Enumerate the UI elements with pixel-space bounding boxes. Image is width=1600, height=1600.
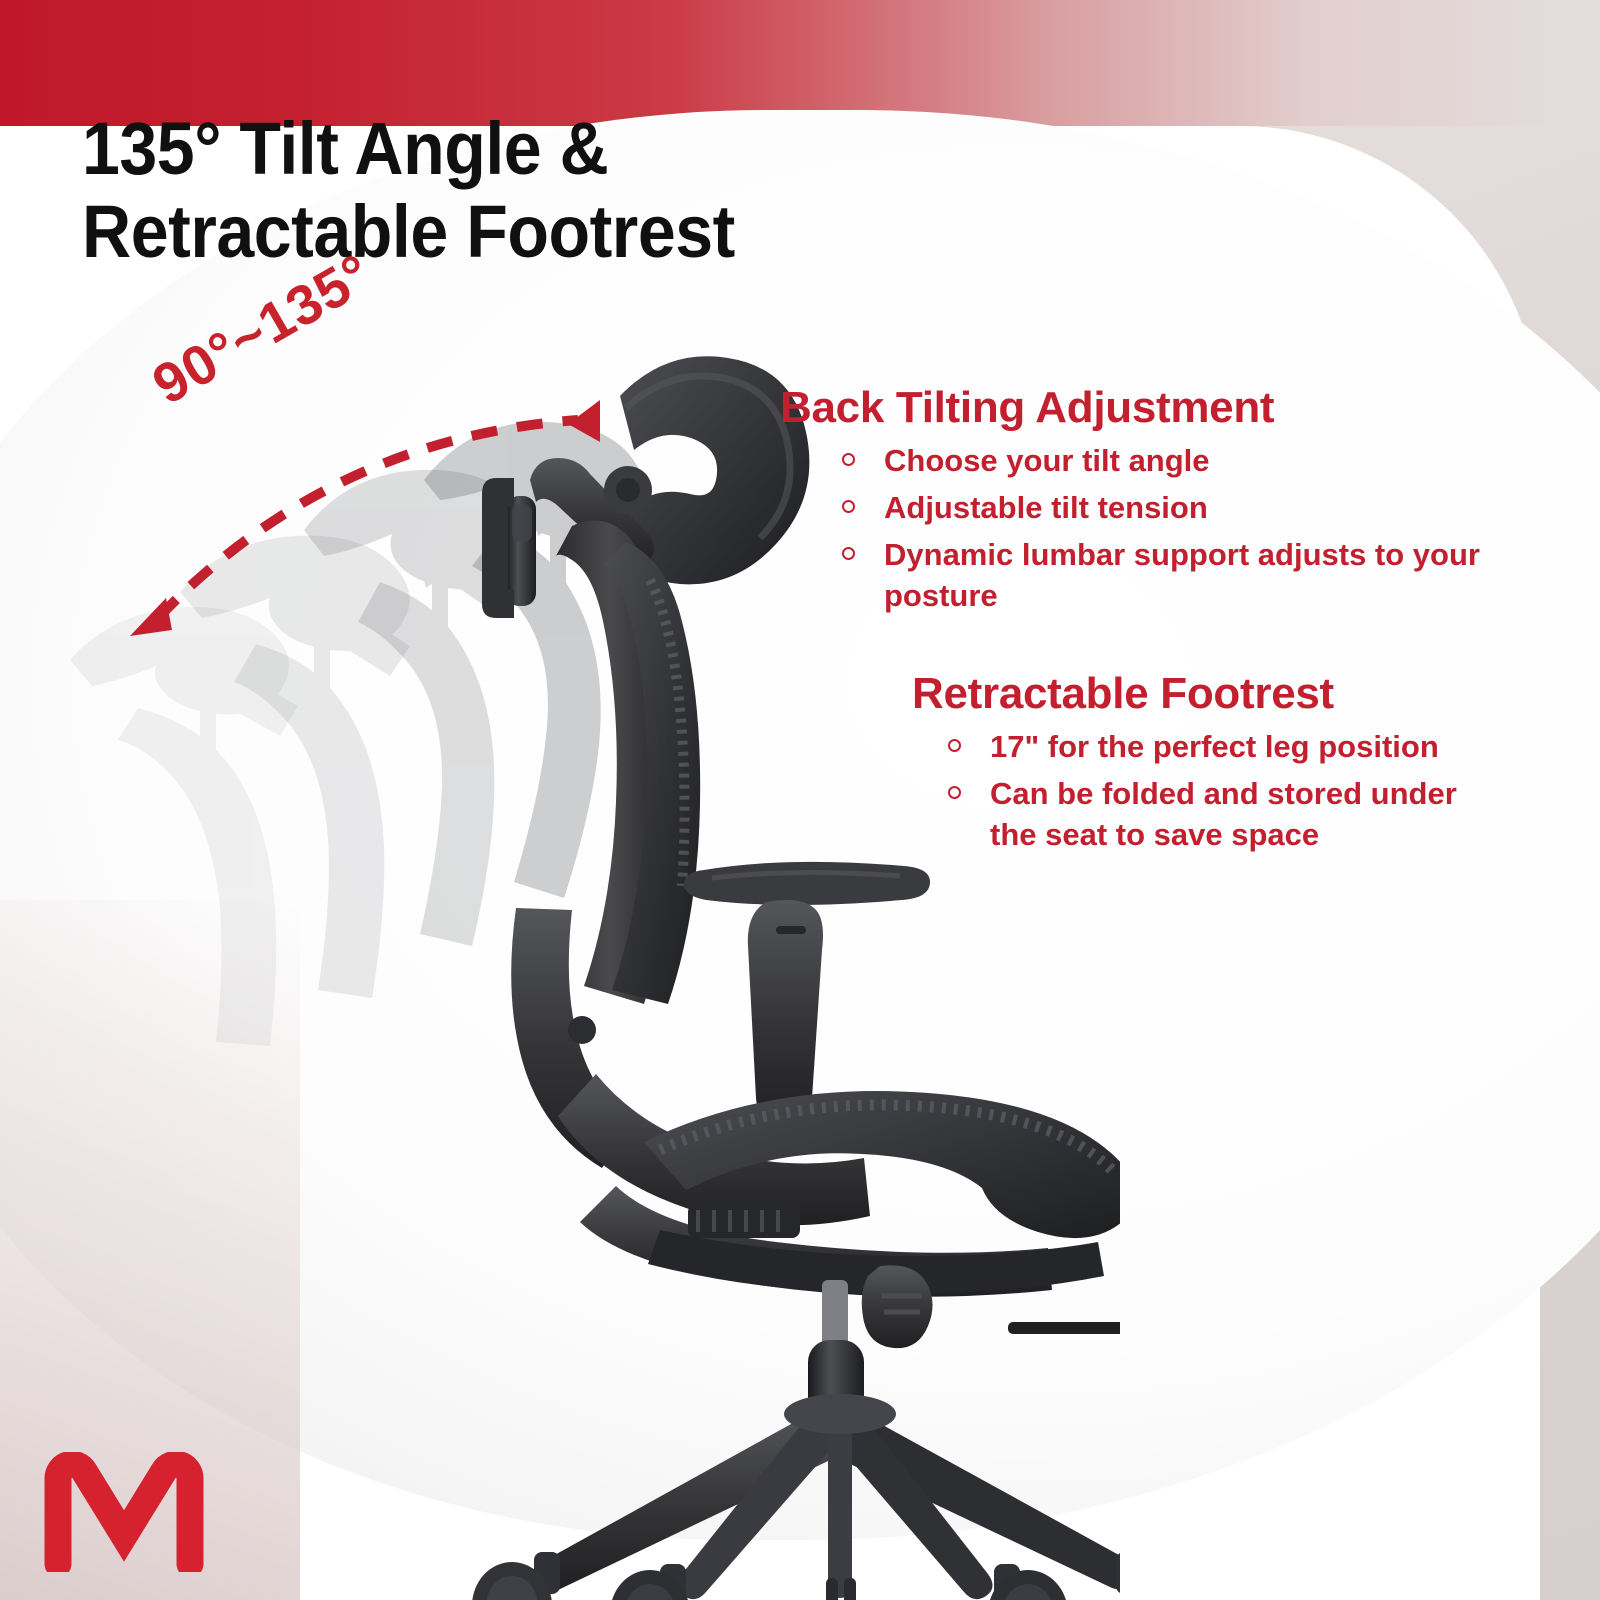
bullet-item: Adjustable tilt tension: [834, 487, 1480, 528]
section-heading-retractable-footrest: Retractable Footrest: [780, 670, 1480, 718]
tilt-angle-annotation: 90°~135°: [100, 330, 660, 650]
chair-base: [530, 1394, 1120, 1600]
bullet-circle-icon: [842, 453, 855, 466]
page-title-line-1: 135° Tilt Angle &: [82, 107, 608, 190]
armrest-pad: [684, 862, 930, 905]
bullet-item: 17" for the perfect leg position: [940, 726, 1480, 767]
bullet-text: Can be folded and stored under the seat …: [990, 776, 1457, 852]
brand-logo: [44, 1452, 204, 1572]
page-title-line-2: Retractable Footrest: [82, 191, 910, 274]
feature-section-back-tilting: Back Tilting Adjustment Choose your tilt…: [780, 384, 1480, 616]
tilt-arc-dashed-line: [158, 420, 578, 618]
bullet-item: Choose your tilt angle: [834, 440, 1480, 481]
bullet-item: Dynamic lumbar support adjusts to your p…: [834, 534, 1480, 616]
bullet-text: Dynamic lumbar support adjusts to your p…: [884, 537, 1480, 613]
feature-section-retractable-footrest: Retractable Footrest 17" for the perfect…: [780, 670, 1480, 855]
bullet-circle-icon: [842, 547, 855, 560]
tilt-arrow-head-right: [568, 400, 600, 442]
bullet-text: Choose your tilt angle: [884, 443, 1210, 478]
bullet-text: 17" for the perfect leg position: [990, 729, 1439, 764]
section-heading-back-tilting: Back Tilting Adjustment: [780, 384, 1480, 432]
bullet-item: Can be folded and stored under the seat …: [940, 773, 1480, 855]
page-title: 135° Tilt Angle & Retractable Footrest: [82, 108, 910, 274]
logo-m-stroke: [58, 1464, 190, 1564]
bullet-circle-icon: [948, 786, 961, 799]
bullet-text: Adjustable tilt tension: [884, 490, 1208, 525]
bullet-circle-icon: [842, 500, 855, 513]
tilt-arrow-head-left: [130, 598, 172, 636]
logo-m-icon: [44, 1452, 204, 1572]
feature-list-column: Back Tilting Adjustment Choose your tilt…: [780, 384, 1480, 862]
infographic-page: 135° Tilt Angle & Retractable Footrest: [0, 0, 1600, 1600]
bullet-list-retractable-footrest: 17" for the perfect leg position Can be …: [780, 726, 1480, 856]
bullet-circle-icon: [948, 739, 961, 752]
bullet-list-back-tilting: Choose your tilt angle Adjustable tilt t…: [780, 440, 1480, 617]
